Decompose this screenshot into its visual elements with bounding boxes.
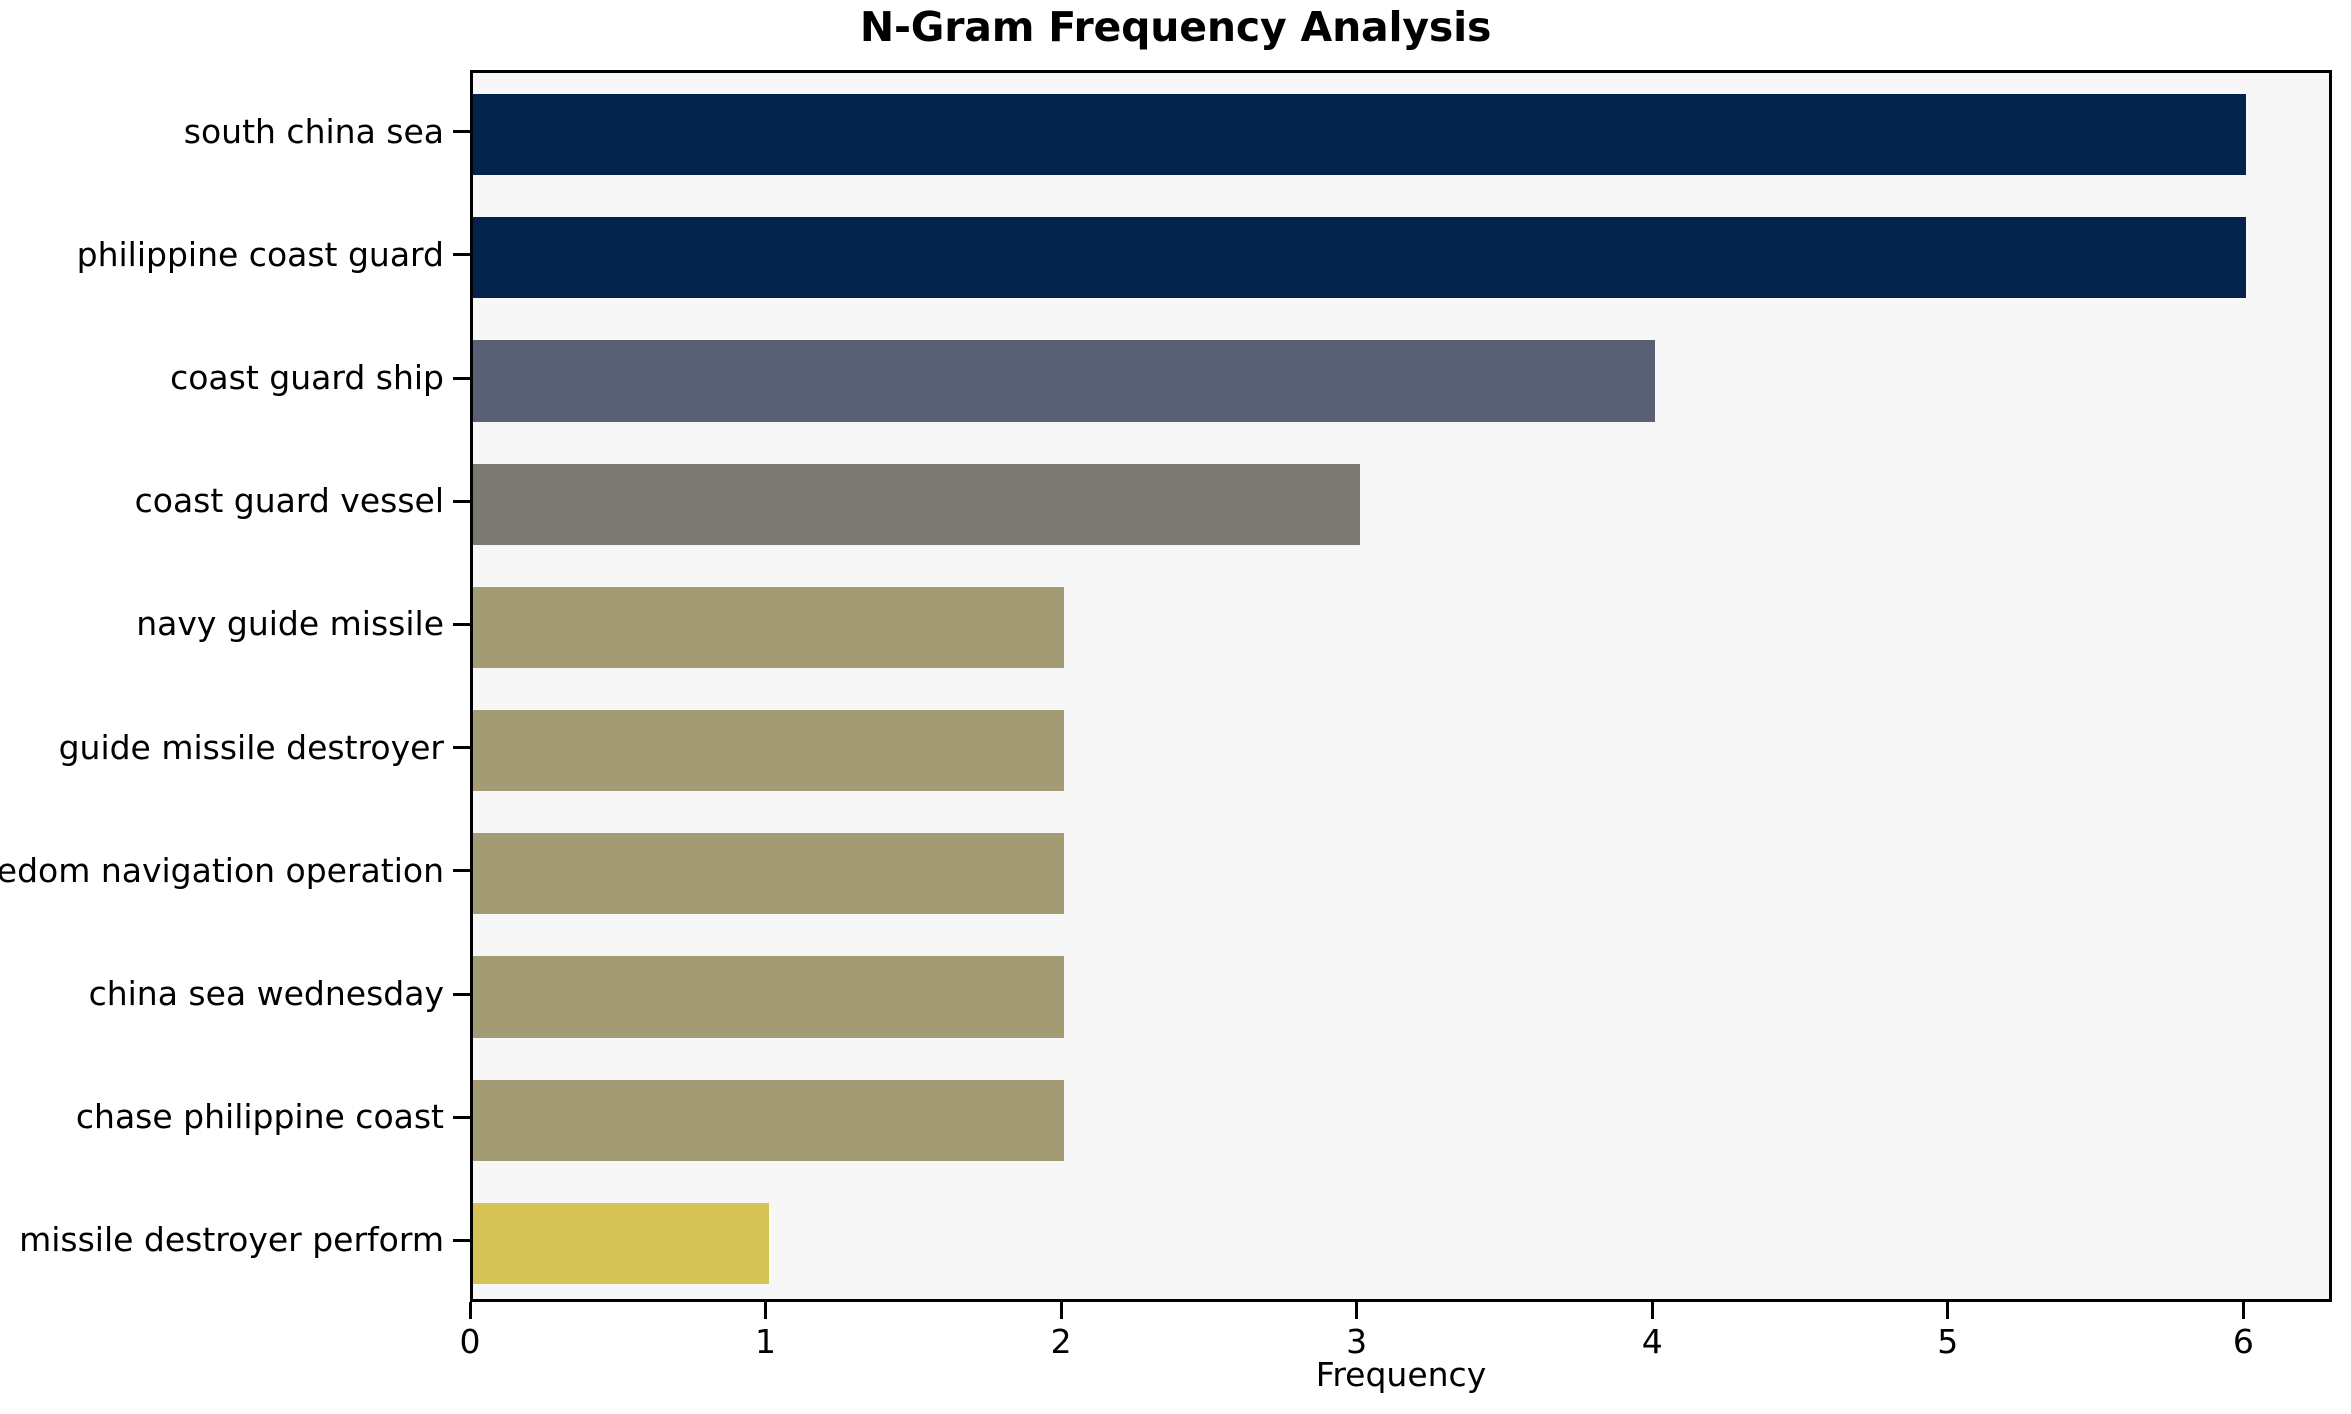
y-tick-mark [453,1239,470,1242]
x-tick-mark [1946,1302,1949,1319]
x-tick-mark [1060,1302,1063,1319]
chart-title: N-Gram Frequency Analysis [0,3,2351,51]
y-tick-label: china sea wednesday [89,971,444,1017]
y-tick-label: guide missile destroyer [59,725,444,771]
chart-figure: N-Gram Frequency Analysis south china se… [0,0,2351,1414]
bar [473,1080,1064,1161]
y-tick-mark [453,253,470,256]
bar [473,464,1360,545]
bar [473,94,2246,175]
x-tick-mark [2242,1302,2245,1319]
y-tick-label: coast guard vessel [135,478,444,524]
bar [473,1203,769,1284]
x-tick-mark [764,1302,767,1319]
x-tick-mark [1355,1302,1358,1319]
y-tick-mark [453,869,470,872]
y-tick-mark [453,130,470,133]
bar [473,587,1064,668]
bar [473,710,1064,791]
plot-area [470,70,2332,1302]
y-tick-mark [453,993,470,996]
bar [473,340,1655,421]
y-tick-label: missile destroyer perform [19,1217,444,1263]
y-tick-label: south china sea [184,109,444,155]
y-tick-label: freedom navigation operation [0,848,444,894]
y-tick-mark [453,377,470,380]
bar [473,833,1064,914]
x-tick-mark [469,1302,472,1319]
y-tick-mark [453,1116,470,1119]
y-axis: south china seaphilippine coast guardcoa… [0,70,470,1302]
y-tick-label: navy guide missile [136,601,444,647]
bars-layer [473,73,2329,1299]
x-tick-mark [1651,1302,1654,1319]
bar [473,956,1064,1037]
y-tick-mark [453,623,470,626]
y-tick-mark [453,746,470,749]
y-tick-label: coast guard ship [170,355,444,401]
bar [473,217,2246,298]
y-tick-label: chase philippine coast [76,1094,444,1140]
x-axis-title: Frequency [470,1355,2332,1395]
y-tick-mark [453,500,470,503]
y-tick-label: philippine coast guard [77,232,444,278]
